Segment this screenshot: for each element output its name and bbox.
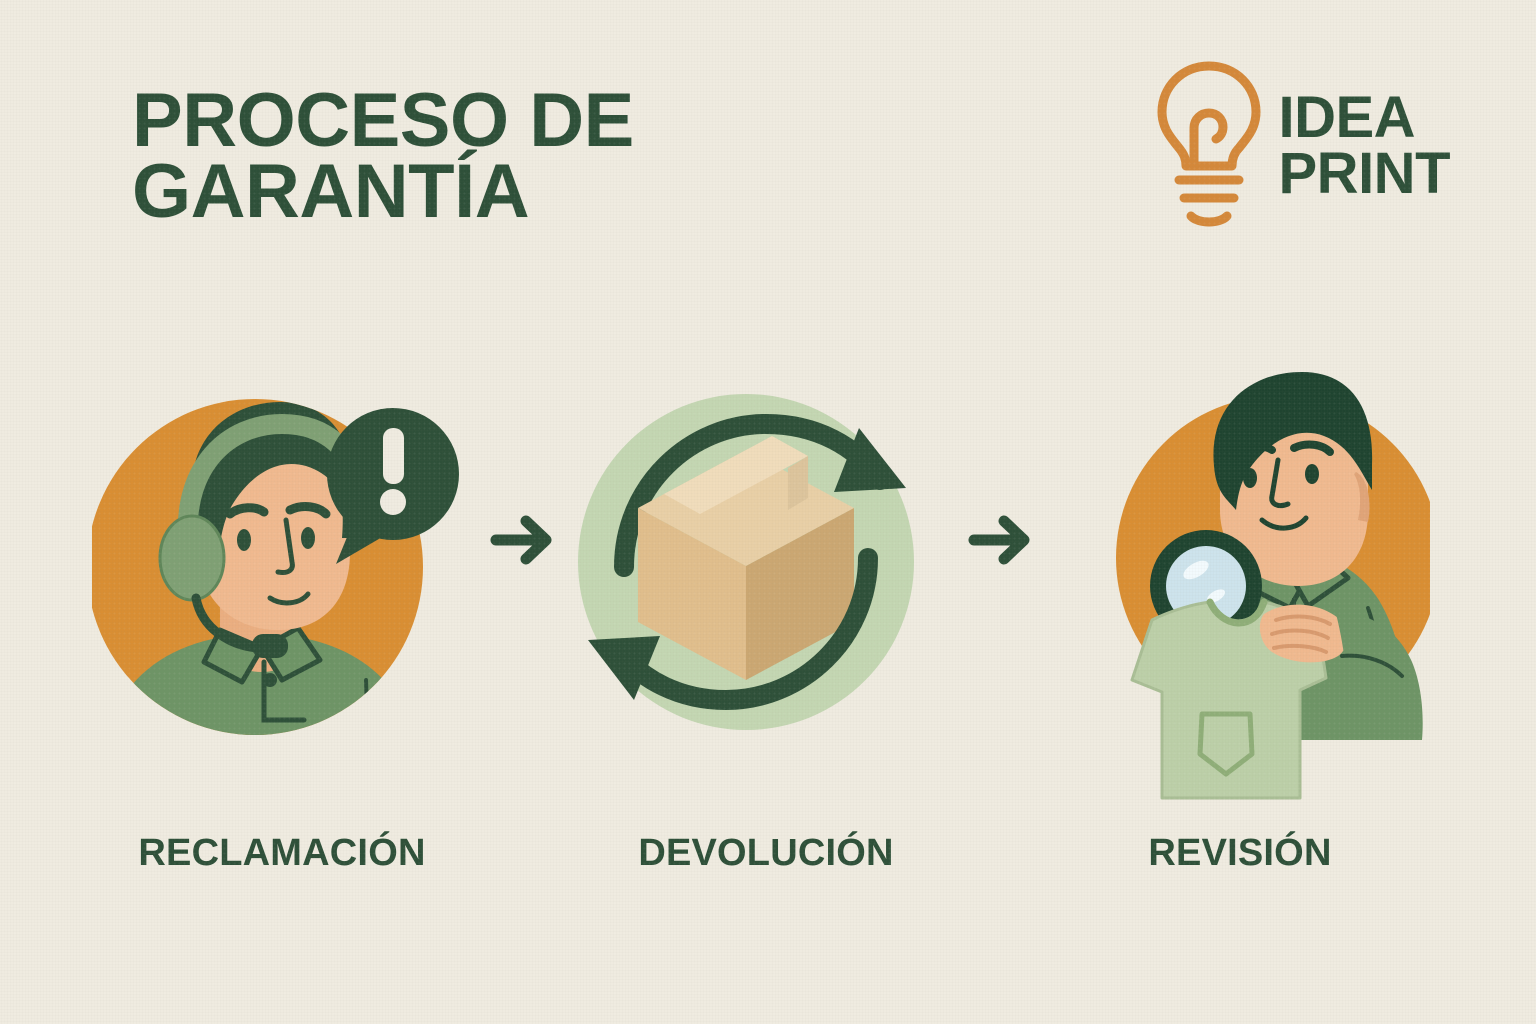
page-title: PROCESO DE GARANTÍA — [132, 86, 892, 227]
lightbulb-icon — [1153, 58, 1265, 233]
support-agent-headset-icon — [92, 362, 472, 762]
infographic-canvas: PROCESO DE GARANTÍA IDEA PRINT — [0, 0, 1536, 1024]
arrow-right-icon — [482, 500, 562, 580]
brand-logo: IDEA PRINT — [1153, 58, 1451, 233]
step-revision — [1050, 362, 1430, 822]
step-reclamacion — [92, 362, 472, 822]
brand-line-1: IDEA — [1279, 90, 1451, 145]
return-box-arrows-icon — [576, 362, 956, 762]
step-devolucion — [576, 362, 956, 822]
step-label-revision: REVISIÓN — [1050, 832, 1430, 875]
brand-line-2: PRINT — [1279, 146, 1451, 201]
title-line-2: GARANTÍA — [132, 157, 892, 228]
inspection-magnifier-tshirt-icon — [1050, 362, 1430, 822]
title-line-1: PROCESO DE — [132, 86, 892, 157]
arrow-right-icon — [960, 500, 1040, 580]
step-label-devolucion: DEVOLUCIÓN — [576, 832, 956, 875]
brand-name: IDEA PRINT — [1279, 90, 1451, 200]
step-label-reclamacion: RECLAMACIÓN — [92, 832, 472, 875]
